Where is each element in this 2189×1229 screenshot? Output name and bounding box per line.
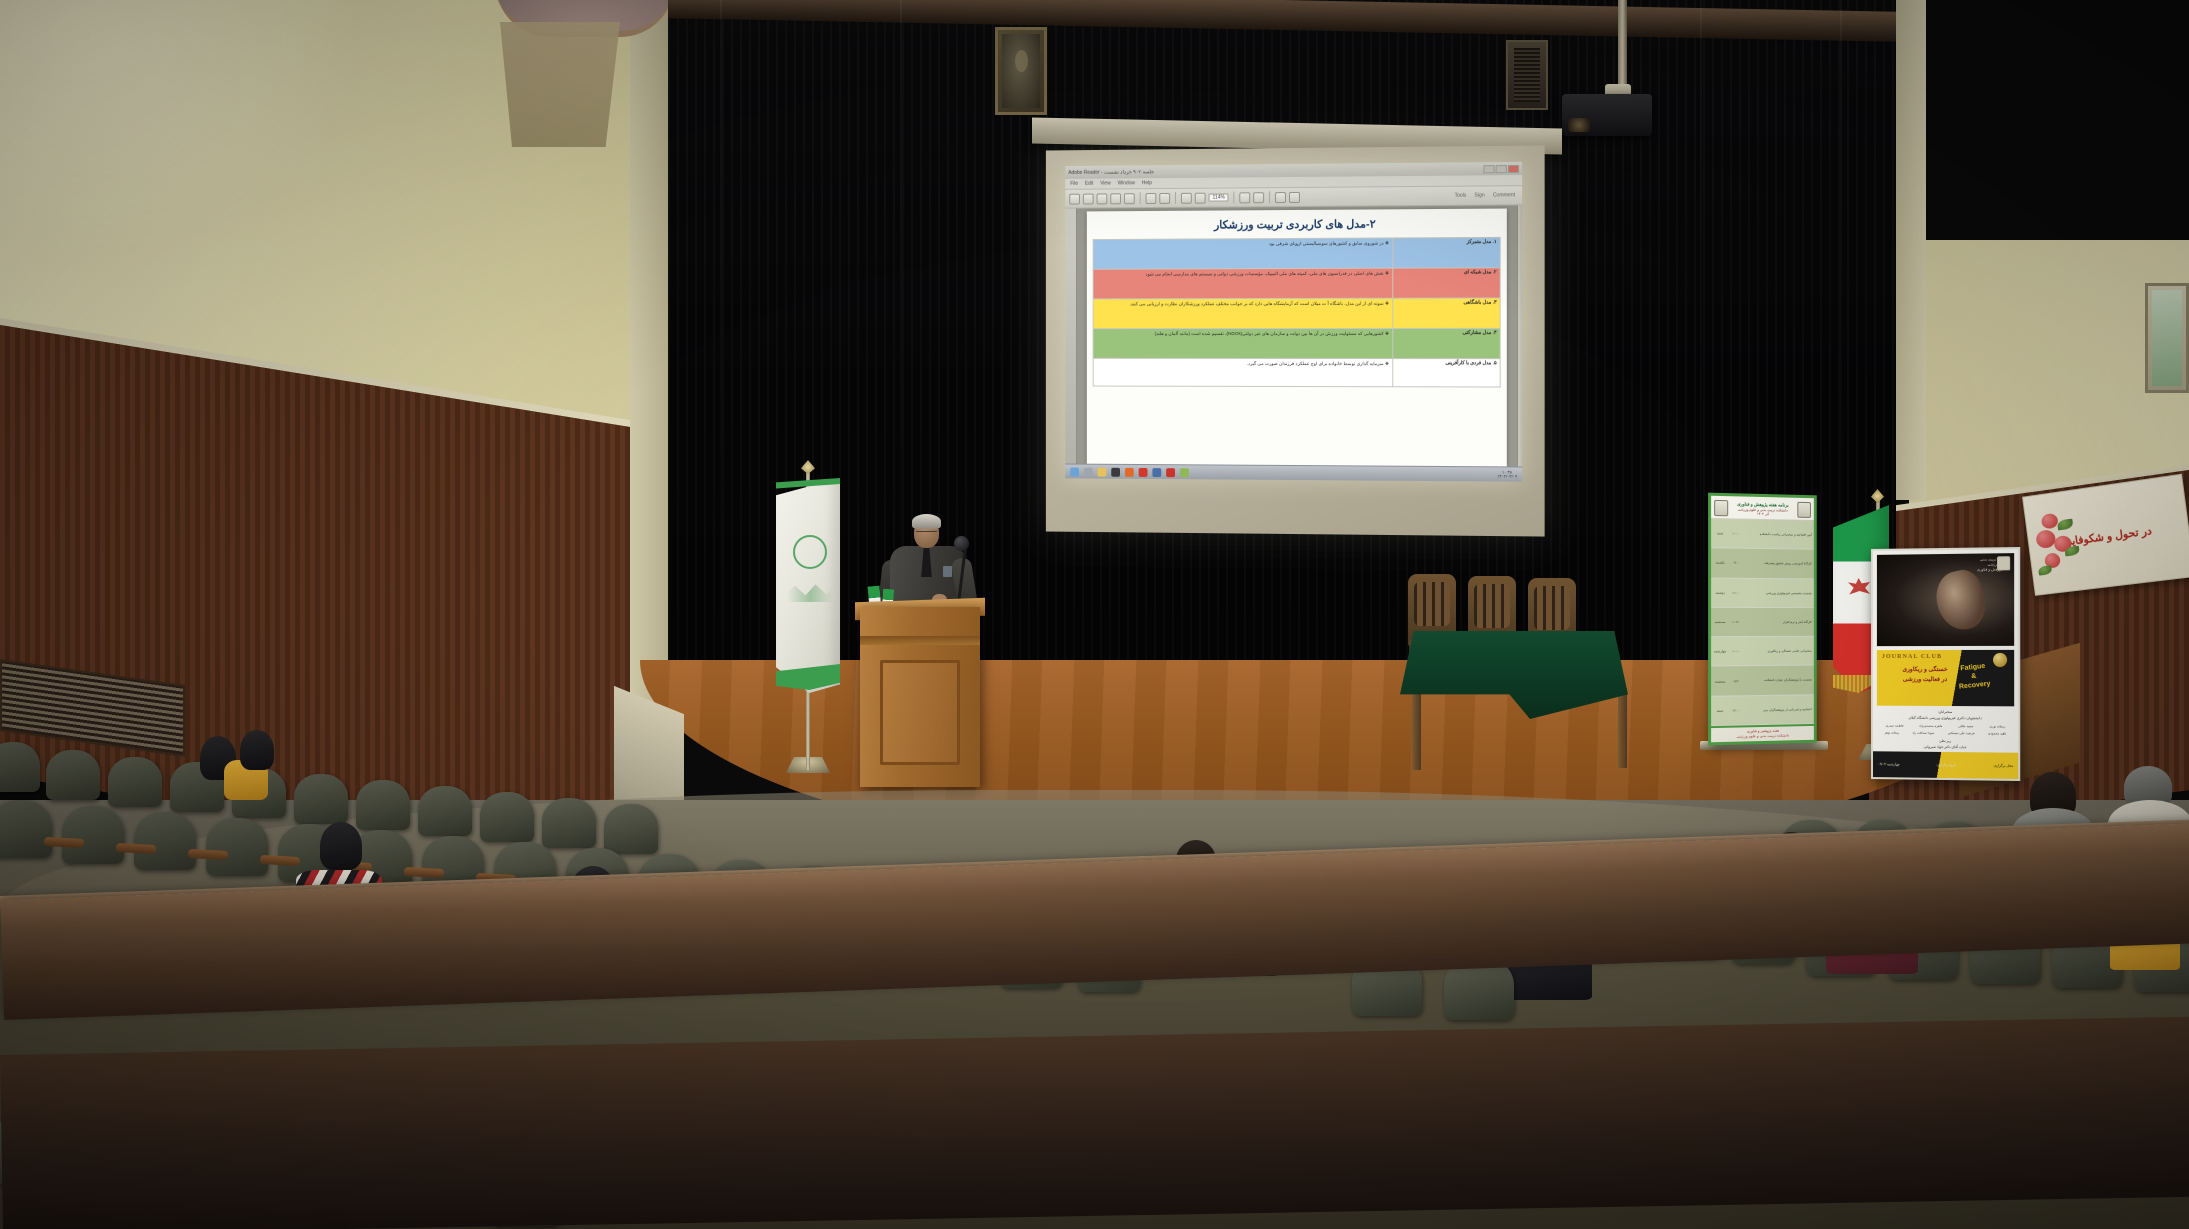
program-row: کارگاه آمار و نرم افزار ۱۰:۳۰ سه‌شنبه	[1711, 608, 1814, 638]
model-name: ۴. مدل مشارکتی	[1393, 328, 1501, 358]
presenter-name: فرشید علی تمسکنی	[1948, 731, 1975, 736]
slide-models-table: ۱. مدل متمرکز ❖ در شوروی سابق و کشورهای …	[1093, 237, 1501, 388]
presenters-subtitle: دانشجویان دکتری فیزیولوژی ورزشی دانشگاه …	[1878, 715, 2013, 722]
presenter-name: سعید جلالی	[1958, 724, 1973, 729]
model-description: ❖ سرمایه گذاری توسط خانواده برای اوج عمل…	[1093, 358, 1393, 386]
email-icon[interactable]	[1110, 193, 1121, 204]
poster-footer: محل برگزاری: تاریخ برگزاری: چهارشنبه ۰۹/…	[1873, 751, 2018, 779]
wall-portrait	[995, 27, 1047, 115]
program-day: پنجشنبه	[1713, 679, 1727, 683]
program-day: یکشنبه	[1713, 561, 1727, 565]
program-time: ۱۰:۰۰	[1727, 532, 1745, 536]
program-row: اختتامیه و قدردانی از پژوهشگران برتر ۱۲:…	[1711, 695, 1814, 726]
toolbar-separator	[1234, 191, 1235, 203]
program-topic: آیین افتتاحیه و سخنرانی ریاست دانشکده	[1745, 532, 1812, 537]
speaker-glasses-icon	[916, 531, 937, 535]
zoom-out-icon[interactable]	[1181, 192, 1192, 203]
projection-screen: جلسه ۹۰۲ خرداد نشست - Adobe Reader File …	[1046, 145, 1545, 536]
media-player-icon[interactable]	[1111, 467, 1120, 476]
poster-logo-icon	[1997, 556, 2010, 570]
seat	[108, 757, 162, 807]
program-day: چهارشنبه	[1713, 649, 1727, 653]
audience-person	[240, 730, 274, 770]
pdf-navigation-pane[interactable]	[1065, 209, 1077, 464]
program-topic: نشست تخصصی فیزیولوژی ورزشی	[1745, 591, 1812, 595]
table-row: ۵. مدل فردی با کارآفرینی ❖ سرمایه گذاری …	[1093, 358, 1500, 387]
minimize-icon[interactable]	[1483, 165, 1494, 173]
presenter-name: فاطمه حیدری	[1886, 723, 1904, 728]
framed-picture-canvas	[2152, 290, 2182, 386]
menu-window[interactable]: Window	[1118, 180, 1135, 186]
opera-icon[interactable]	[1139, 467, 1148, 476]
zoom-level-field[interactable]: 114%	[1209, 193, 1229, 201]
window-buttons	[1483, 164, 1519, 172]
menu-file[interactable]: File	[1070, 181, 1078, 187]
podium-front-panel	[880, 660, 960, 765]
seat	[46, 750, 100, 800]
wall-speaker-box	[1506, 40, 1548, 110]
toolbar-separator	[1140, 192, 1141, 204]
auditorium-scene: جلسه ۹۰۲ خرداد نشست - Adobe Reader File …	[0, 0, 2189, 1229]
proscenium-column-left	[630, 0, 670, 760]
model-name: ۳. مدل باشگاهی	[1393, 298, 1501, 328]
adobe-reader-icon[interactable]	[1166, 468, 1175, 477]
read-aloud-icon[interactable]	[1289, 191, 1300, 202]
projector-mount-pole	[1618, 0, 1627, 96]
seat	[542, 798, 596, 848]
presenter-name: ریحانه نوری	[1990, 724, 2006, 729]
rotate-icon[interactable]	[1275, 192, 1286, 203]
maximize-icon[interactable]	[1496, 165, 1507, 173]
seat	[604, 804, 658, 854]
seat	[134, 812, 196, 870]
poster-date-value: چهارشنبه ۰۹/۰۳	[1878, 762, 1900, 766]
folder-icon[interactable]	[1098, 467, 1107, 476]
table-leg	[1412, 690, 1421, 770]
create-pdf-icon[interactable]	[1083, 193, 1094, 204]
floral-decoration-icon	[2030, 503, 2089, 580]
pdf-document-area: ۲-مدل های کاربردی تربیت ورزشکار ۱. مدل م…	[1065, 205, 1522, 466]
banner-footer-line2: دانشکده تربیت بدنی و علوم ورزشی	[1713, 733, 1812, 740]
program-time: ۱۰:۰۰	[1727, 649, 1745, 653]
comment-button[interactable]: Comment	[1493, 192, 1515, 198]
portrait-canvas	[1002, 34, 1040, 108]
os-taskbar[interactable]: ۱۰:۴۸ ۱۴۰۲/۰۳/۰۹	[1065, 464, 1522, 482]
model-description: ❖ کشورهایی که مسئولیت ورزش در آن ها بین …	[1093, 328, 1393, 358]
taskbar-clock[interactable]: ۱۰:۴۸ ۱۴۰۲/۰۳/۰۹	[1497, 470, 1517, 479]
flag-emblem-icon	[793, 535, 827, 569]
model-description: ❖ نمونه ای از این مدل، باشگاه آ ت میلان …	[1093, 298, 1393, 328]
presenter-name: ریحانه نوهر	[1885, 730, 1900, 735]
word-icon[interactable]	[1152, 468, 1161, 477]
seat	[0, 800, 52, 858]
clock-date: ۱۴۰۲/۰۳/۰۹	[1497, 474, 1517, 479]
table-row: ۱. مدل متمرکز ❖ در شوروی سابق و کشورهای …	[1093, 237, 1500, 269]
program-time: ۰۹:۰۰	[1727, 561, 1745, 565]
program-day: شنبه	[1713, 531, 1727, 535]
close-icon[interactable]	[1508, 164, 1519, 172]
open-file-icon[interactable]	[1069, 193, 1080, 204]
speaker-hair	[912, 514, 941, 529]
program-row: کارگاه آموزشی روش تحقیق پیشرفته ۰۹:۰۰ یک…	[1711, 549, 1814, 579]
model-description: ❖ نقش های اصلی در فدراسیون های ملی، کمیت…	[1093, 268, 1393, 299]
program-day: جمعه	[1713, 708, 1727, 712]
athlete-figure	[1931, 566, 1989, 634]
table-row: ۳. مدل باشگاهی ❖ نمونه ای از این مدل، با…	[1093, 298, 1500, 329]
tools-button[interactable]: Tools	[1455, 193, 1467, 199]
journal-club-label: JOURNAL CLUB	[1882, 654, 1942, 660]
program-topic: نشست با پژوهشگران جوان دانشکده	[1745, 678, 1812, 683]
program-time: ۱۰:۳۰	[1727, 620, 1745, 624]
program-topic: کارگاه آمار و نرم افزار	[1745, 620, 1812, 624]
curtain-fold	[720, 0, 722, 700]
pdf-right-panel-buttons[interactable]: Tools Sign Comment	[1455, 192, 1518, 199]
model-name: ۵. مدل فردی با کارآفرینی	[1393, 359, 1501, 387]
presenter-name: ناهید محمودی	[1988, 731, 2006, 736]
program-rows: آیین افتتاحیه و سخنرانی ریاست دانشکده ۱۰…	[1711, 519, 1814, 726]
audience-person	[320, 822, 362, 870]
seat	[356, 780, 410, 830]
program-time: ۱۲:۰۰	[1727, 708, 1745, 712]
program-row: نشست با پژوهشگران جوان دانشکده ۰۹:۳۰ پنج…	[1711, 666, 1814, 697]
fit-width-icon[interactable]	[1254, 192, 1265, 203]
poster-venue-label: محل برگزاری:	[1993, 764, 2013, 768]
firefox-icon[interactable]	[1125, 467, 1134, 476]
presenter-row: ناهید محمودی فرشید علی تمسکنی سودا صداقت…	[1878, 730, 2013, 736]
microphone-icon	[954, 536, 969, 551]
program-row: آیین افتتاحیه و سخنرانی ریاست دانشکده ۱۰…	[1711, 519, 1814, 550]
save-icon[interactable]	[1097, 193, 1108, 204]
seat	[294, 774, 348, 824]
speaker-badge	[943, 566, 952, 577]
wall-light-glow	[0, 0, 360, 250]
faculty-logo-icon	[1714, 500, 1728, 516]
poster-title-band: JOURNAL CLUB خستگی و ریکاوری در فعالیت و…	[1877, 650, 2014, 706]
presenter-row: ریحانه نوری سعید جلالی ماهره محمدی‌نژاد …	[1878, 723, 2013, 729]
poster-body: سخنرانان: دانشجویان دکتری فیزیولوژی ورزش…	[1873, 706, 2018, 755]
menu-help[interactable]: Help	[1142, 180, 1152, 186]
page-down-icon[interactable]	[1159, 192, 1170, 203]
model-name: ۱. مدل متمرکز	[1393, 237, 1501, 268]
toolbar-separator	[1175, 192, 1176, 204]
program-topic: کارگاه آموزشی روش تحقیق پیشرفته	[1745, 561, 1812, 566]
seat	[62, 806, 124, 864]
pdf-window-title: جلسه ۹۰۲ خرداد نشست - Adobe Reader	[1068, 166, 1480, 176]
explorer-icon[interactable]	[1084, 467, 1093, 476]
presenter-name: ماهره محمدی‌نژاد	[1919, 723, 1942, 728]
seat	[206, 818, 268, 876]
projector-lens	[1568, 118, 1590, 132]
portrait-figure	[1015, 50, 1028, 72]
print-icon[interactable]	[1124, 193, 1135, 204]
curtain-fold	[1700, 0, 1702, 700]
fit-page-icon[interactable]	[1240, 192, 1251, 203]
program-time: ۱۱:۰۰	[1727, 591, 1745, 595]
seat	[0, 742, 40, 792]
model-description: ❖ در شوروی سابق و کشورهای سوسیالیستی ارو…	[1093, 238, 1393, 269]
table-leg	[1618, 688, 1627, 768]
slide-title: ۲-مدل های کاربردی تربیت ورزشکار	[1093, 217, 1501, 232]
model-name: ۲. مدل شبکه ای	[1393, 268, 1501, 299]
program-day: دوشنبه	[1713, 590, 1727, 594]
curtain-valance-drape	[500, 22, 620, 147]
framed-picture-right	[2145, 283, 2189, 393]
page-up-icon[interactable]	[1146, 193, 1157, 204]
zoom-in-icon[interactable]	[1195, 192, 1206, 203]
toolbar-separator	[1270, 191, 1271, 203]
projected-desktop: جلسه ۹۰۲ خرداد نشست - Adobe Reader File …	[1065, 162, 1522, 482]
program-day: سه‌شنبه	[1713, 620, 1727, 624]
program-time: ۰۹:۳۰	[1727, 679, 1745, 683]
presenter-name: سودا صداقت راد	[1912, 730, 1934, 735]
pdf-scrollbar[interactable]	[1517, 205, 1522, 466]
university-logo-icon	[1797, 502, 1811, 518]
institutional-flag	[776, 478, 840, 693]
banner-footer: هفته پژوهش و فناوری دانشکده تربیت بدنی و…	[1711, 724, 1814, 742]
podium-trim-band	[860, 636, 980, 645]
seat	[418, 786, 472, 836]
program-row: سخنرانی علمی خستگی و ریکاوری ۱۰:۰۰ چهارش…	[1711, 637, 1814, 667]
banner-header: برنامه هفته پژوهش و فناوری دانشکده تربیت…	[1711, 496, 1814, 521]
program-row: نشست تخصصی فیزیولوژی ورزشی ۱۱:۰۰ دوشنبه	[1711, 578, 1814, 608]
pdf-page: ۲-مدل های کاربردی تربیت ورزشکار ۱. مدل م…	[1087, 209, 1507, 467]
poster-photo: دانشکده تربیت بدنی و علوم ورزشی هفته پژو…	[1877, 553, 2014, 646]
menu-view[interactable]: View	[1100, 181, 1111, 187]
table-row: ۴. مدل مشارکتی ❖ کشورهایی که مسئولیت ورز…	[1093, 328, 1500, 358]
program-schedule-banner: برنامه هفته پژوهش و فناوری دانشکده تربیت…	[1708, 493, 1817, 746]
program-topic: اختتامیه و قدردانی از پژوهشگران برتر	[1745, 707, 1812, 712]
sign-button[interactable]: Sign	[1475, 193, 1485, 199]
explorer-window-icon[interactable]	[1180, 468, 1189, 477]
chair-name: جناب آقای دکتر جواد شیروانی	[1878, 744, 2013, 751]
start-icon[interactable]	[1070, 467, 1079, 476]
table-row: ۲. مدل شبکه ای ❖ نقش های اصلی در فدراسیو…	[1093, 268, 1500, 299]
menu-edit[interactable]: Edit	[1085, 181, 1093, 187]
program-topic: سخنرانی علمی خستگی و ریکاوری	[1745, 649, 1812, 654]
journal-club-poster: دانشکده تربیت بدنی و علوم ورزشی هفته پژو…	[1871, 547, 2020, 781]
seat	[480, 792, 534, 842]
poster-date-label: تاریخ برگزاری:	[1936, 763, 1956, 767]
